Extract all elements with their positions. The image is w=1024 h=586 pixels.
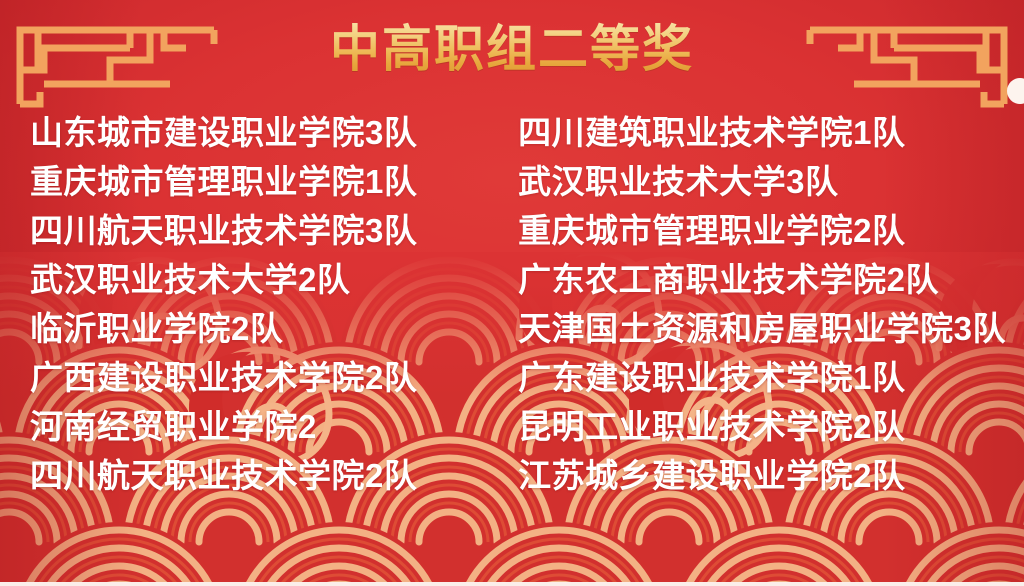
list-item: 武汉职业技术大学3队	[518, 157, 1006, 206]
bottom-edge-strip	[0, 582, 1024, 586]
list-item: 四川航天职业技术学院3队	[30, 206, 486, 255]
list-item: 广东建设职业技术学院1队	[518, 353, 1006, 402]
list-item: 河南经贸职业学院2	[30, 402, 486, 451]
list-item: 广西建设职业技术学院2队	[30, 353, 486, 402]
list-item: 山东城市建设职业学院3队	[30, 108, 486, 157]
list-item: 四川航天职业技术学院2队	[30, 451, 486, 500]
list-item: 天津国土资源和房屋职业学院3队	[518, 304, 1006, 353]
list-item: 武汉职业技术大学2队	[30, 255, 486, 304]
winners-column-left: 山东城市建设职业学院3队 重庆城市管理职业学院1队 四川航天职业技术学院3队 武…	[30, 108, 486, 500]
list-item: 广东农工商职业技术学院2队	[518, 255, 1006, 304]
winners-column-right: 四川建筑职业技术学院1队 武汉职业技术大学3队 重庆城市管理职业学院2队 广东农…	[486, 108, 1006, 500]
list-item: 临沂职业学院2队	[30, 304, 486, 353]
list-item: 昆明工业职业技术学院2队	[518, 402, 1006, 451]
list-item: 重庆城市管理职业学院2队	[518, 206, 1006, 255]
award-slide: 中高职组二等奖 山东城市建设职业学院3队 重庆城市管理职业学院1队 四川航天职业…	[0, 0, 1024, 586]
list-item: 重庆城市管理职业学院1队	[30, 157, 486, 206]
page-title: 中高职组二等奖	[0, 22, 1024, 76]
winners-list: 山东城市建设职业学院3队 重庆城市管理职业学院1队 四川航天职业技术学院3队 武…	[0, 108, 1024, 500]
list-item: 江苏城乡建设职业学院2队	[518, 451, 1006, 500]
list-item: 四川建筑职业技术学院1队	[518, 108, 1006, 157]
